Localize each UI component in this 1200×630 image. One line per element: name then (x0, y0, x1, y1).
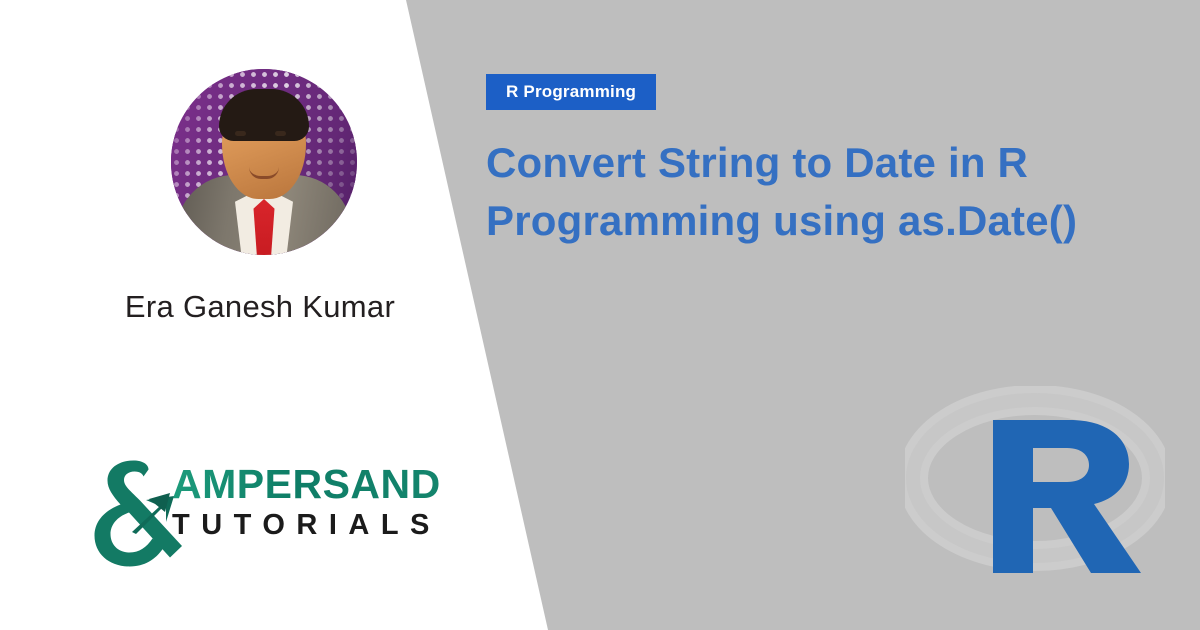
avatar-eye-right (275, 131, 286, 136)
avatar-tie (254, 199, 275, 255)
brand-name-primary: AMPERSAND (172, 464, 441, 505)
r-language-logo-icon (905, 386, 1165, 591)
avatar (171, 69, 357, 255)
category-badge: R Programming (486, 74, 656, 110)
ampersand-arrow-icon (74, 460, 184, 568)
brand-logo: AMPERSAND TUTORIALS (74, 458, 474, 570)
brand-name-secondary: TUTORIALS (172, 511, 441, 540)
avatar-image (171, 69, 357, 255)
headline-title: Convert String to Date in R Programming … (486, 134, 1158, 250)
avatar-person (171, 69, 357, 255)
brand-text: AMPERSAND TUTORIALS (172, 464, 441, 540)
avatar-hair (219, 89, 309, 141)
author-name: Era Ganesh Kumar (0, 289, 520, 325)
avatar-eye-left (235, 131, 246, 136)
thumbnail-canvas: Era Ganesh Kumar AMPERSAND TUTORIALS R P… (0, 0, 1200, 630)
